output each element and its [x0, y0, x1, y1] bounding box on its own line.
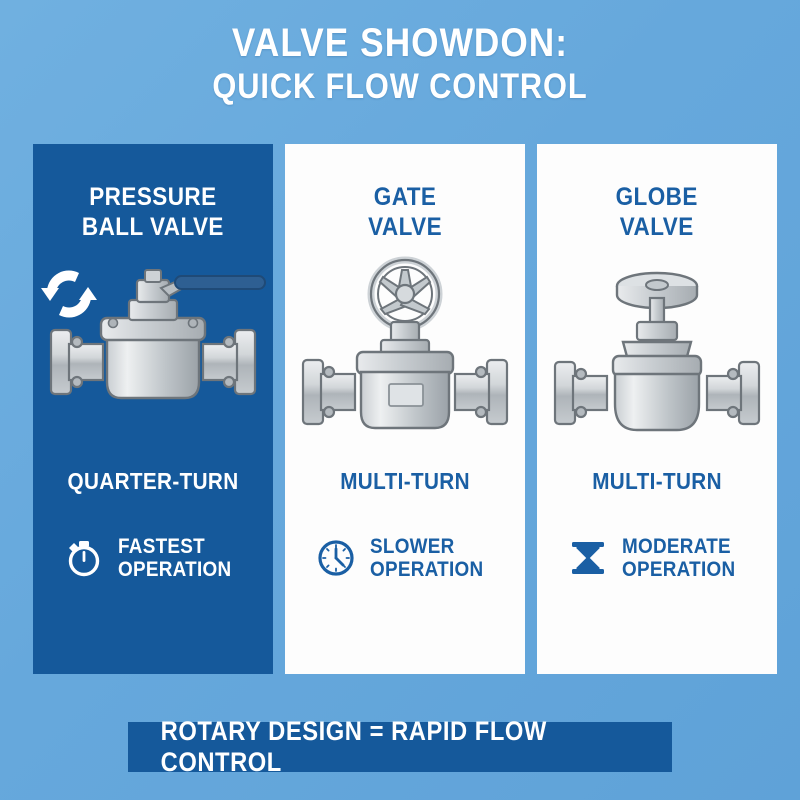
- speed-text-globe-valve: MODERATE OPERATION: [622, 535, 735, 581]
- clock-icon: [314, 536, 358, 580]
- footer-banner: ROTARY DESIGN = RAPID FLOW CONTROL: [128, 722, 672, 772]
- title-line-1: VALVE SHOWDON:: [48, 20, 752, 66]
- speed-line-1: FASTEST: [118, 535, 205, 558]
- card-gate-valve[interactable]: GATE VALVE: [285, 144, 525, 674]
- card-title-line-1: PRESSURE: [82, 182, 224, 212]
- card-title-gate-valve: GATE VALVE: [368, 182, 442, 242]
- valve-comparison-cards: PRESSURE BALL VALVE: [33, 144, 777, 674]
- speed-row-ball-valve: FASTEST OPERATION: [44, 535, 262, 581]
- speed-row-globe-valve: MODERATE OPERATION: [548, 535, 766, 581]
- card-pressure-ball-valve[interactable]: PRESSURE BALL VALVE: [33, 144, 273, 674]
- speed-text-gate-valve: SLOWER OPERATION: [370, 535, 483, 581]
- speed-line-2: OPERATION: [118, 558, 231, 581]
- speed-line-2: OPERATION: [622, 558, 735, 581]
- turn-label-gate-valve: MULTI-TURN: [340, 468, 470, 495]
- card-globe-valve[interactable]: GLOBE VALVE: [537, 144, 777, 674]
- speed-text-ball-valve: FASTEST OPERATION: [118, 535, 231, 581]
- handwheel-spoked: [371, 260, 439, 328]
- card-title-globe-valve: GLOBE VALVE: [616, 182, 698, 242]
- speed-line-1: SLOWER: [370, 535, 455, 558]
- hourglass-icon: [566, 536, 610, 580]
- footer-text: ROTARY DESIGN = RAPID FLOW CONTROL: [161, 716, 640, 778]
- infographic-poster: VALVE SHOWDON: QUICK FLOW CONTROL PRESSU…: [0, 0, 800, 800]
- globe-valve-illustration: [537, 252, 777, 452]
- card-title-line-1: GATE: [368, 182, 442, 212]
- rotation-arrows-icon: [41, 271, 97, 318]
- card-title-line-2: VALVE: [368, 212, 442, 242]
- card-title-line-1: GLOBE: [616, 182, 698, 212]
- card-title-ball-valve: PRESSURE BALL VALVE: [82, 182, 224, 242]
- ball-valve-illustration: [33, 252, 273, 452]
- card-title-line-2: BALL VALVE: [82, 212, 224, 242]
- card-title-line-2: VALVE: [616, 212, 698, 242]
- speed-row-gate-valve: SLOWER OPERATION: [296, 535, 514, 581]
- turn-label-globe-valve: MULTI-TURN: [592, 468, 722, 495]
- speed-line-1: MODERATE: [622, 535, 731, 558]
- gate-valve-illustration: [285, 252, 525, 452]
- stopwatch-icon: [62, 536, 106, 580]
- poster-title: VALVE SHOWDON: QUICK FLOW CONTROL: [0, 20, 800, 108]
- title-line-2: QUICK FLOW CONTROL: [48, 66, 752, 108]
- turn-label-ball-valve: QUARTER-TURN: [67, 468, 238, 495]
- speed-line-2: OPERATION: [370, 558, 483, 581]
